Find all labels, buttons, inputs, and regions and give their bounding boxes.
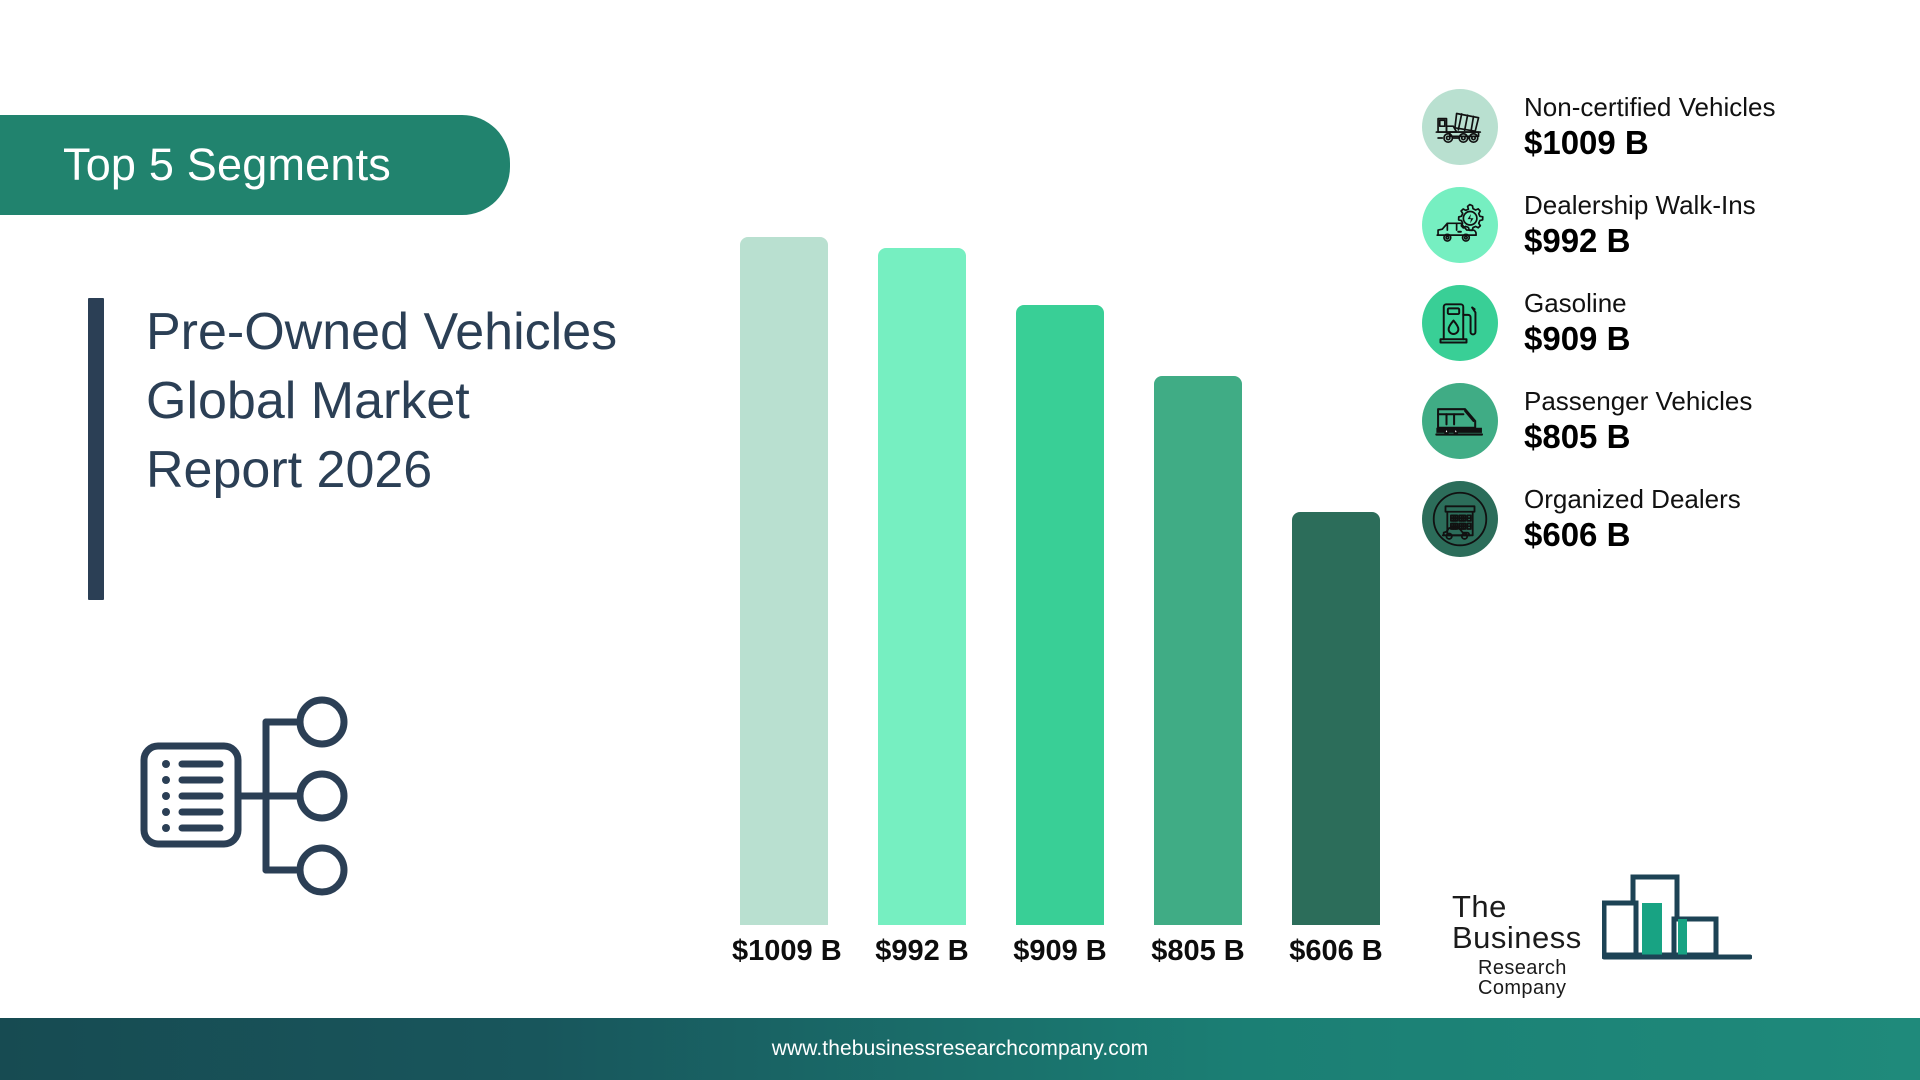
cement-mixer-truck-icon <box>1422 89 1498 165</box>
infographic-canvas: Top 5 Segments Pre-Owned Vehicles Global… <box>0 0 1920 1080</box>
electric-car-gear-icon <box>1422 187 1498 263</box>
report-title-block: Pre-Owned Vehicles Global Market Report … <box>88 298 617 600</box>
legend-item-text: Organized Dealers$606 B <box>1524 484 1741 554</box>
bar-value-label-1: $1009 B <box>732 935 836 968</box>
title-line-2: Global Market <box>146 367 617 436</box>
bar-value-label-4: $805 B <box>1146 935 1250 968</box>
bar-value-label-5: $606 B <box>1284 935 1388 968</box>
bar-1 <box>740 237 828 925</box>
legend-item-text: Passenger Vehicles$805 B <box>1524 386 1752 456</box>
bar-4 <box>1154 376 1242 925</box>
legend-item-label: Dealership Walk-Ins <box>1524 190 1756 221</box>
legend-item-label: Gasoline <box>1524 288 1630 319</box>
bar-chart-value-labels: $1009 B$992 B$909 B$805 B$606 B <box>740 935 1380 985</box>
legend-item-5: Organized Dealers$606 B <box>1422 470 1902 568</box>
legend-item-value: $992 B <box>1524 221 1756 261</box>
legend-item-label: Non-certified Vehicles <box>1524 92 1775 123</box>
title-line-3: Report 2026 <box>146 436 617 505</box>
legend-item-value: $1009 B <box>1524 123 1775 163</box>
top-segments-badge: Top 5 Segments <box>0 115 510 215</box>
legend-item-2: Dealership Walk-Ins$992 B <box>1422 176 1902 274</box>
bar-value-label-2: $992 B <box>870 935 974 968</box>
legend-item-value: $606 B <box>1524 515 1741 555</box>
flowchart-document-icon <box>140 690 370 905</box>
bar-5 <box>1292 512 1380 925</box>
segments-legend: Non-certified Vehicles$1009 BDealership … <box>1422 78 1902 568</box>
page-title: Pre-Owned Vehicles Global Market Report … <box>146 298 617 600</box>
legend-item-text: Non-certified Vehicles$1009 B <box>1524 92 1775 162</box>
legend-item-label: Passenger Vehicles <box>1524 386 1752 417</box>
legend-item-4: Passenger Vehicles$805 B <box>1422 372 1902 470</box>
bar-3 <box>1016 305 1104 925</box>
title-line-1: Pre-Owned Vehicles <box>146 298 617 367</box>
title-accent-rule <box>88 298 104 600</box>
bar-chart-bars <box>740 120 1380 925</box>
legend-item-value: $909 B <box>1524 319 1630 359</box>
footer-url[interactable]: www.thebusinessresearchcompany.com <box>772 1037 1149 1061</box>
legend-item-text: Dealership Walk-Ins$992 B <box>1524 190 1756 260</box>
fuel-pump-icon <box>1422 285 1498 361</box>
company-logo: The Business Research Company <box>1452 873 1752 973</box>
train-front-icon <box>1422 383 1498 459</box>
legend-item-1: Non-certified Vehicles$1009 B <box>1422 78 1902 176</box>
legend-item-text: Gasoline$909 B <box>1524 288 1630 358</box>
dealership-building-car-icon <box>1422 481 1498 557</box>
bar-value-label-3: $909 B <box>1008 935 1112 968</box>
footer-bar: www.thebusinessresearchcompany.com <box>0 1018 1920 1080</box>
bar-2 <box>878 248 966 925</box>
badge-label: Top 5 Segments <box>0 139 391 191</box>
legend-item-value: $805 B <box>1524 417 1752 457</box>
legend-item-3: Gasoline$909 B <box>1422 274 1902 372</box>
bar-chart: $1009 B$992 B$909 B$805 B$606 B <box>740 120 1380 940</box>
legend-item-label: Organized Dealers <box>1524 484 1741 515</box>
bar-chart-logo-mark <box>1602 873 1752 970</box>
